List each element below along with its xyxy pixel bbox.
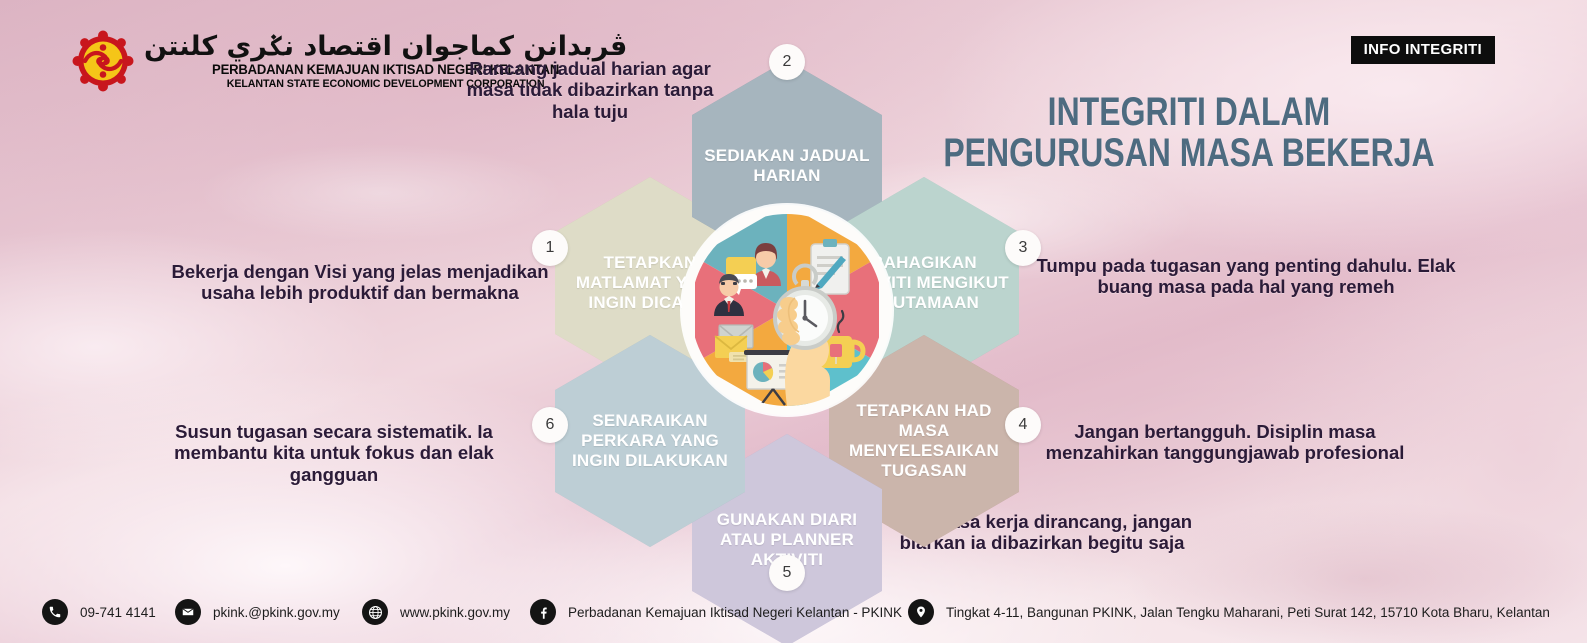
footer-website[interactable]: www.pkink.gov.my: [362, 599, 510, 625]
footer-facebook-text: Perbadanan Kemajuan Iktisad Negeri Kelan…: [568, 605, 902, 620]
step-description-1: Bekerja dengan Visi yang jelas menjadika…: [160, 261, 560, 304]
step-number-3: 3: [1005, 230, 1041, 266]
phone-icon: [42, 599, 68, 625]
footer-phone-text: 09-741 4141: [80, 605, 156, 620]
info-integriti-badge: INFO INTEGRITI: [1351, 36, 1495, 64]
globe-icon: [362, 599, 388, 625]
footer-bar: 09-741 4141 pkink.@pkink.gov.my www.pkin…: [0, 585, 1587, 643]
step-number-4: 4: [1005, 407, 1041, 443]
pkink-logo-icon: [72, 30, 134, 92]
step-number-2: 2: [769, 44, 805, 80]
step-number-1: 1: [532, 230, 568, 266]
envelope-icon: [175, 599, 201, 625]
footer-email-text: pkink.@pkink.gov.my: [213, 605, 340, 620]
footer-facebook[interactable]: Perbadanan Kemajuan Iktisad Negeri Kelan…: [530, 599, 902, 625]
footer-address-text: Tingkat 4-11, Bangunan PKINK, Jalan Teng…: [946, 605, 1550, 620]
center-graphic: [691, 214, 883, 406]
step-description-6: Susun tugasan secara sistematik. Ia memb…: [128, 421, 540, 485]
footer-email[interactable]: pkink.@pkink.gov.my: [175, 599, 340, 625]
step-description-3: Tumpu pada tugasan yang penting dahulu. …: [1030, 255, 1462, 298]
center-illustration: [682, 205, 892, 415]
footer-website-text: www.pkink.gov.my: [400, 605, 510, 620]
hexagon-label-2: SEDIAKAN JADUAL HARIAN: [692, 146, 882, 186]
location-pin-icon: [908, 599, 934, 625]
footer-phone[interactable]: 09-741 4141: [42, 599, 156, 625]
step-number-6: 6: [532, 407, 568, 443]
footer-address[interactable]: Tingkat 4-11, Bangunan PKINK, Jalan Teng…: [908, 599, 1550, 625]
clipboard-pen-icon: [811, 239, 849, 294]
facebook-icon: [530, 599, 556, 625]
hexagon-label-6: SENARAIKAN PERKARA YANG INGIN DILAKUKAN: [555, 411, 745, 472]
hexagon-wheel: TETAPKAN MATLAMAT YANG INGIN DICAPAI SED…: [507, 42, 1067, 592]
step-number-5: 5: [769, 555, 805, 591]
step-description-4: Jangan bertangguh. Disiplin masa menzahi…: [1018, 421, 1432, 464]
